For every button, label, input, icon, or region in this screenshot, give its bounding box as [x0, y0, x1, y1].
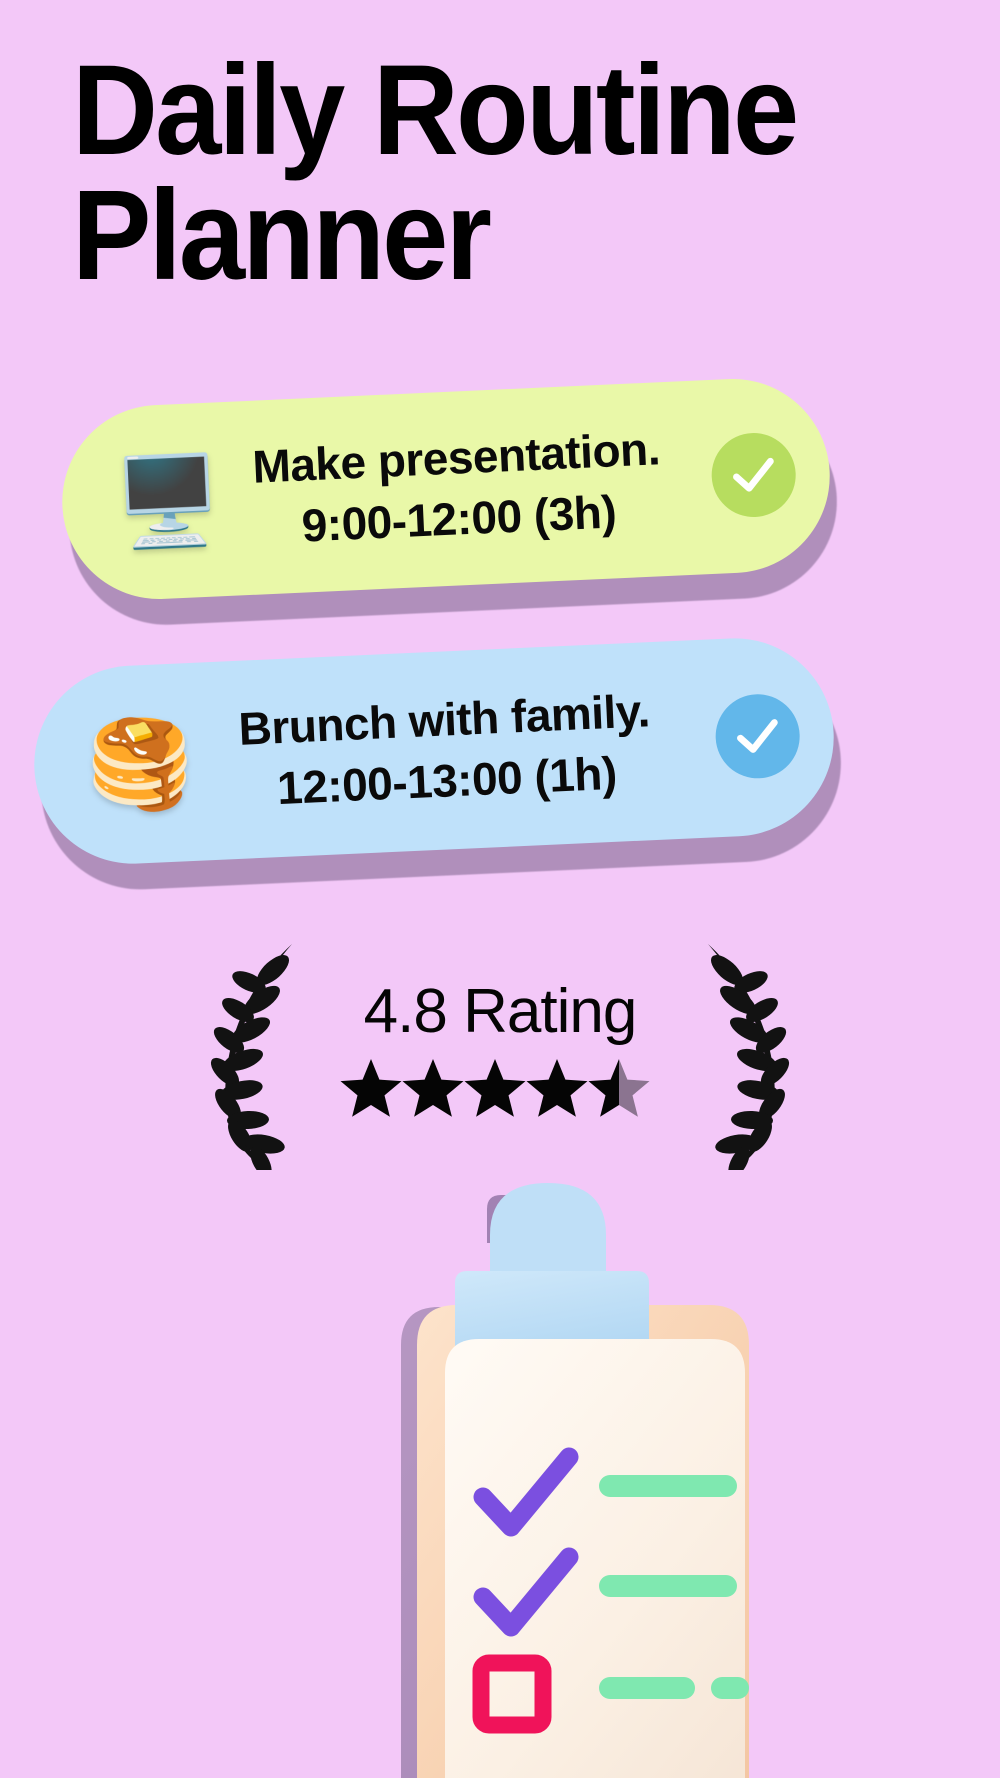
- pancakes-emoji: 🥞: [84, 719, 195, 810]
- check-mark-icon: [731, 709, 785, 763]
- laurel-wreath-left-icon: [195, 930, 315, 1170]
- task-card-make-presentation[interactable]: 🖥️ Make presentation. 9:00-12:00 (3h): [58, 375, 834, 604]
- check-mark-icon: [727, 448, 781, 502]
- task-complete-toggle[interactable]: [714, 692, 802, 780]
- clipboard-paper: [445, 1339, 745, 1778]
- task-card-surface: 🖥️ Make presentation. 9:00-12:00 (3h): [58, 375, 834, 604]
- task-time: 9:00-12:00 (3h): [300, 481, 617, 556]
- stars-row-icon: [340, 1057, 660, 1119]
- desktop-computer-emoji: 🖥️: [112, 456, 223, 547]
- task-text-block: Make presentation. 9:00-12:00 (3h): [219, 416, 715, 560]
- task-complete-toggle[interactable]: [710, 431, 798, 519]
- star-rating: [340, 1057, 660, 1119]
- task-card-surface: 🥞 Brunch with family. 12:00-13:00 (1h): [30, 634, 838, 868]
- clipboard-knob: [490, 1183, 606, 1271]
- poster-canvas: Daily Routine Planner 🖥️ Make presentati…: [0, 0, 1000, 1778]
- laurel-wreath-right-icon: [685, 930, 805, 1170]
- task-line: [599, 1575, 737, 1597]
- page-title: Daily Routine Planner: [72, 48, 872, 299]
- task-line-short: [711, 1677, 749, 1699]
- task-line: [599, 1677, 695, 1699]
- rating-badge: 4.8 Rating: [195, 920, 805, 1180]
- clipboard-checklist-illustration: [355, 1175, 785, 1778]
- task-text-block: Brunch with family. 12:00-13:00 (1h): [191, 678, 719, 823]
- task-card-brunch-with-family[interactable]: 🥞 Brunch with family. 12:00-13:00 (1h): [30, 634, 838, 868]
- rating-label: 4.8 Rating: [364, 981, 637, 1043]
- task-line: [599, 1475, 737, 1497]
